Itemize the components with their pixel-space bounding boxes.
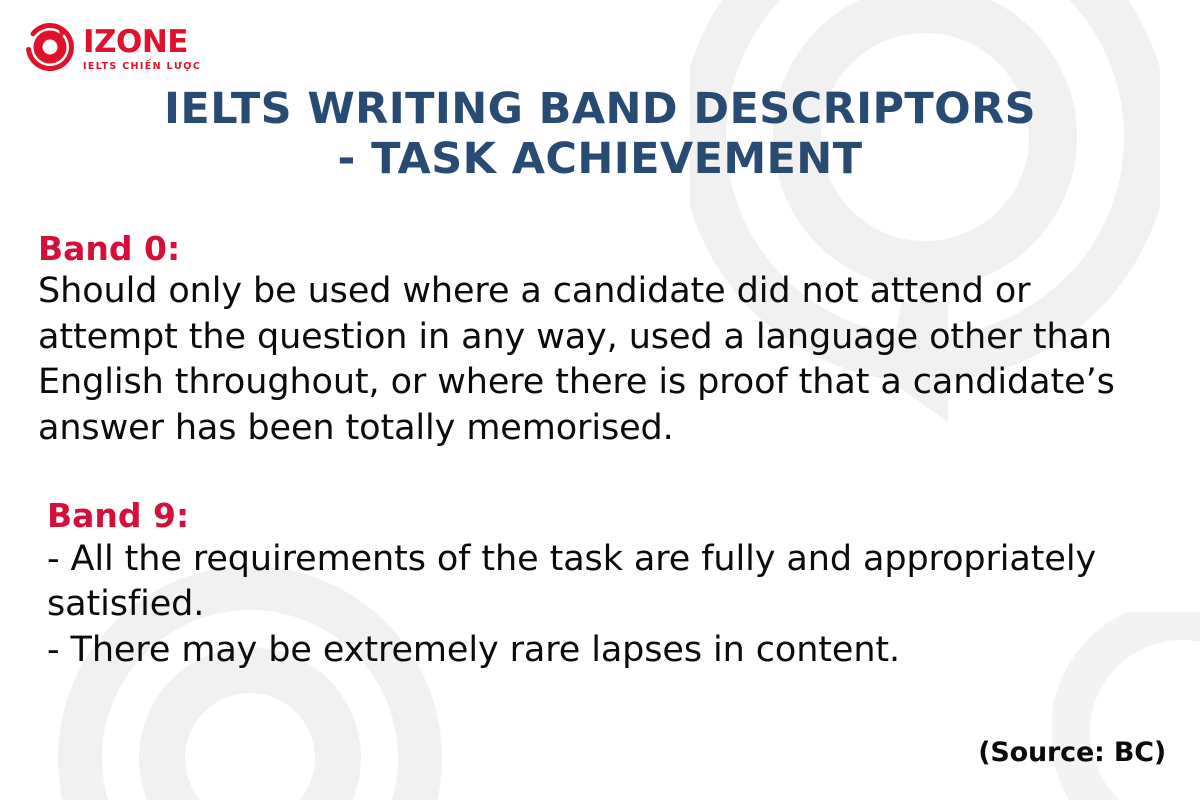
- brand-tagline: IELTS CHIẾN LƯỢC: [83, 62, 201, 72]
- band-9-body: - All the requirements of the task are f…: [47, 537, 1172, 674]
- page-title-line-2: - TASK ACHIEVEMENT: [0, 134, 1200, 184]
- target-bullseye-icon: [26, 23, 74, 76]
- band-9-bullet-2: - There may be extremely rare lapses in …: [47, 628, 1172, 674]
- source-attribution: (Source: BC): [978, 737, 1166, 768]
- band-section-9: Band 9: - All the requirements of the ta…: [38, 495, 1172, 673]
- band-9-bullet-1: - All the requirements of the task are f…: [47, 537, 1172, 628]
- band-0-body: Should only be used where a candidate di…: [38, 269, 1172, 451]
- band-9-heading: Band 9:: [47, 495, 1172, 536]
- page-title: IELTS WRITING BAND DESCRIPTORS - TASK AC…: [0, 84, 1200, 185]
- band-section-0: Band 0: Should only be used where a cand…: [38, 228, 1172, 451]
- content-body: Band 0: Should only be used where a cand…: [38, 228, 1172, 673]
- slide-canvas: IZONE IELTS CHIẾN LƯỢC IELTS WRITING BAN…: [0, 0, 1200, 800]
- band-0-heading: Band 0:: [38, 228, 1172, 269]
- page-title-line-1: IELTS WRITING BAND DESCRIPTORS: [164, 84, 1036, 134]
- brand-name: IZONE: [83, 27, 201, 58]
- band-0-paragraph: Should only be used where a candidate di…: [38, 269, 1172, 451]
- brand-logo: IZONE IELTS CHIẾN LƯỢC: [26, 23, 201, 76]
